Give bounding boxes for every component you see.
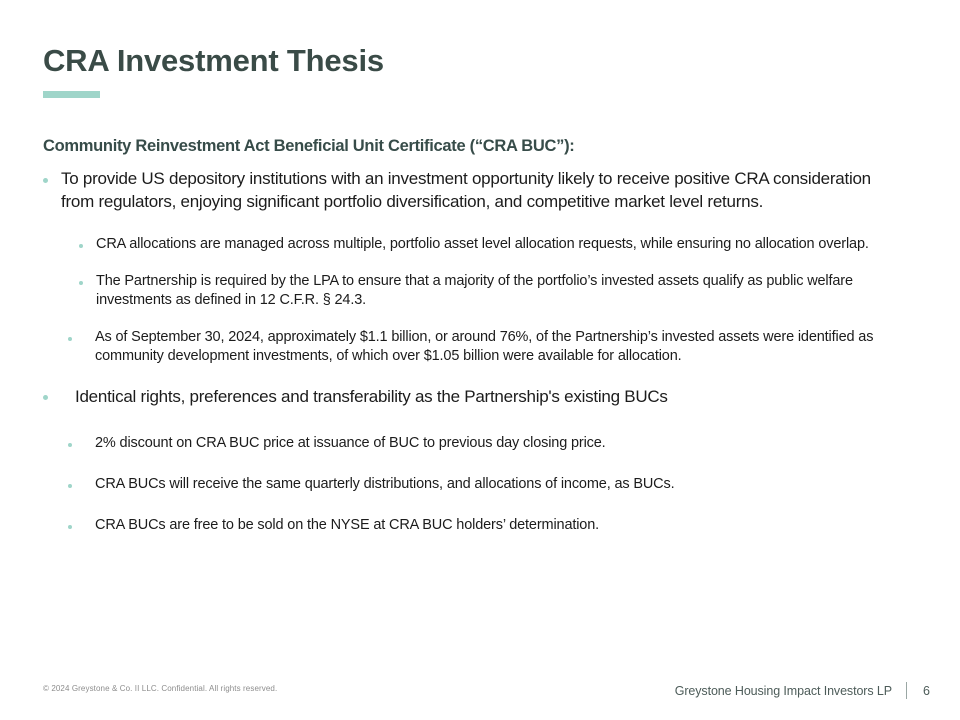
- bullet-dot-icon: [79, 244, 83, 248]
- bullet-dot-icon: [68, 443, 72, 447]
- bullet-text: CRA allocations are managed across multi…: [96, 235, 908, 254]
- bullet-text: Identical rights, preferences and transf…: [75, 386, 668, 408]
- footer-copyright: © 2024 Greystone & Co. II LLC. Confident…: [43, 684, 277, 693]
- bullet-item: 2% discount on CRA BUC price at issuance…: [0, 434, 960, 453]
- bullet-item: CRA allocations are managed across multi…: [0, 235, 960, 254]
- bullet-text: CRA BUCs are free to be sold on the NYSE…: [95, 516, 915, 535]
- spacer: [0, 494, 960, 516]
- page-number: 6: [920, 684, 930, 698]
- title-accent-rule: [43, 91, 100, 98]
- slide: CRA Investment Thesis Community Reinvest…: [0, 0, 960, 720]
- bullet-item: As of September 30, 2024, approximately …: [0, 328, 960, 366]
- bullet-item: The Partnership is required by the LPA t…: [0, 272, 960, 310]
- bullet-dot-icon: [68, 525, 72, 529]
- spacer: [0, 366, 960, 386]
- bullet-text: 2% discount on CRA BUC price at issuance…: [95, 434, 915, 453]
- page-title: CRA Investment Thesis: [43, 42, 384, 80]
- bullet-text: CRA BUCs will receive the same quarterly…: [95, 475, 915, 494]
- bullet-item: CRA BUCs will receive the same quarterly…: [0, 475, 960, 494]
- bullet-text: The Partnership is required by the LPA t…: [96, 272, 908, 310]
- bullet-text: As of September 30, 2024, approximately …: [95, 328, 915, 366]
- bullet-list: To provide US depository institutions wi…: [0, 168, 960, 535]
- bullet-text: To provide US depository institutions wi…: [61, 168, 881, 213]
- footer-divider: [906, 682, 907, 699]
- bullet-dot-icon: [79, 281, 83, 285]
- spacer: [0, 254, 960, 272]
- title-block: CRA Investment Thesis: [43, 42, 384, 98]
- spacer: [0, 213, 960, 235]
- bullet-dot-icon: [43, 395, 48, 400]
- footer-right-group: Greystone Housing Impact Investors LP 6: [675, 682, 930, 699]
- spacer: [0, 453, 960, 475]
- spacer: [0, 408, 960, 434]
- bullet-item: CRA BUCs are free to be sold on the NYSE…: [0, 516, 960, 535]
- bullet-dot-icon: [43, 178, 48, 183]
- bullet-dot-icon: [68, 484, 72, 488]
- footer-company-name: Greystone Housing Impact Investors LP: [675, 684, 892, 698]
- spacer: [0, 310, 960, 328]
- bullet-item: Identical rights, preferences and transf…: [0, 386, 960, 408]
- bullet-dot-icon: [68, 337, 72, 341]
- slide-subtitle: Community Reinvestment Act Beneficial Un…: [43, 137, 575, 156]
- bullet-item: To provide US depository institutions wi…: [0, 168, 960, 213]
